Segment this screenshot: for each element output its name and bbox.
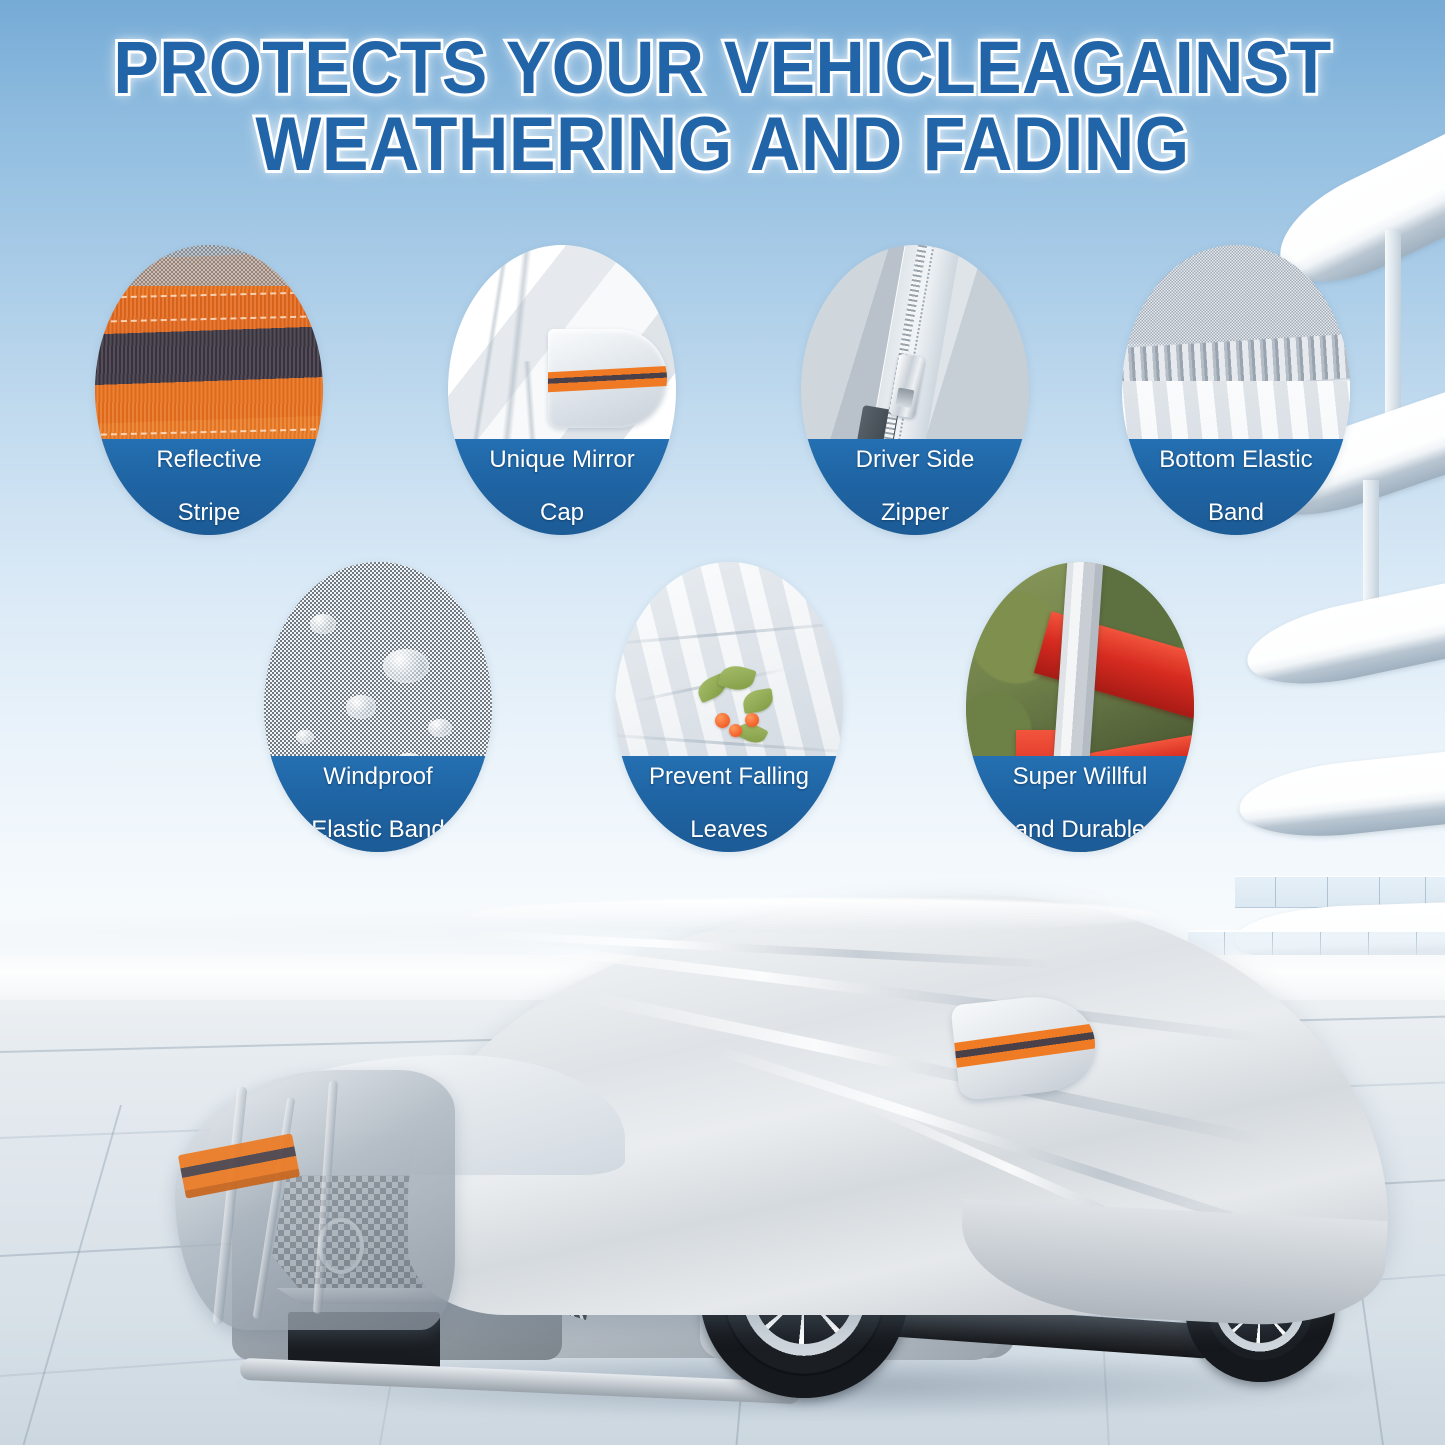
feature-label-line2: Stripe (150, 500, 267, 527)
feature-label-line2: Cap (483, 500, 640, 527)
hero-vehicle-scene (0, 880, 1445, 1445)
feature-label-line1: Windproof (305, 764, 450, 791)
feature-label-line2: Band (1153, 500, 1318, 527)
feature-label-line1: Bottom Elastic (1153, 447, 1318, 474)
feature-disc: Reflective Stripe (95, 245, 323, 535)
building-slab (1240, 575, 1445, 699)
headline-line-1: PROTECTS YOUR VEHICLEAGAINST (58, 34, 1387, 102)
headline: PROTECTS YOUR VEHICLEAGAINST WEATHERING … (0, 34, 1445, 180)
car-cover-roof-ridge (470, 898, 1160, 932)
feature-label-banner: Unique Mirror Cap (448, 439, 676, 535)
feature-super-willful-durable[interactable]: Super Willful and Durable (966, 562, 1194, 852)
building-slab (1236, 747, 1445, 846)
feature-disc: Prevent Falling Leaves (615, 562, 843, 852)
headline-line-2: WEATHERING AND FADING (58, 110, 1387, 180)
feature-label-line2: Zipper (850, 500, 981, 527)
car-cover-front-flap (175, 1070, 455, 1330)
infographic-canvas: PROTECTS YOUR VEHICLEAGAINST WEATHERING … (0, 0, 1445, 1445)
feature-label-line1: Super Willful (1007, 764, 1154, 791)
feature-windproof-elastic-band[interactable]: Windproof Elastic Band (264, 562, 492, 852)
feature-label-banner: Driver Side Zipper (801, 439, 1029, 535)
feature-label-line2: Leaves (643, 817, 815, 844)
feature-label-line1: Unique Mirror (483, 447, 640, 474)
feature-reflective-stripe[interactable]: Reflective Stripe (95, 245, 323, 535)
feature-label-line2: Elastic Band (305, 817, 450, 844)
feature-driver-side-zipper[interactable]: Driver Side Zipper (801, 245, 1029, 535)
feature-label-line1: Reflective (150, 447, 267, 474)
feature-prevent-falling-leaves[interactable]: Prevent Falling Leaves (615, 562, 843, 852)
feature-disc: Bottom Elastic Band (1122, 245, 1350, 535)
feature-unique-mirror-cap[interactable]: Unique Mirror Cap (448, 245, 676, 535)
feature-disc: Unique Mirror Cap (448, 245, 676, 535)
feature-label-banner: Bottom Elastic Band (1122, 439, 1350, 535)
feature-label-banner: Reflective Stripe (95, 439, 323, 535)
mirror-pocket-stripe (950, 1021, 1099, 1068)
feature-disc: Driver Side Zipper (801, 245, 1029, 535)
feature-disc: Super Willful and Durable (966, 562, 1194, 852)
feature-label-banner: Super Willful and Durable (966, 756, 1194, 852)
feature-bottom-elastic-band[interactable]: Bottom Elastic Band (1122, 245, 1350, 535)
cover-front-reflective-stripe (178, 1133, 300, 1198)
feature-label-line2: and Durable (1007, 817, 1154, 844)
feature-label-line1: Prevent Falling (643, 764, 815, 791)
feature-disc: Windproof Elastic Band (264, 562, 492, 852)
feature-label-line1: Driver Side (850, 447, 981, 474)
feature-label-banner: Windproof Elastic Band (264, 756, 492, 852)
feature-label-banner: Prevent Falling Leaves (615, 756, 843, 852)
